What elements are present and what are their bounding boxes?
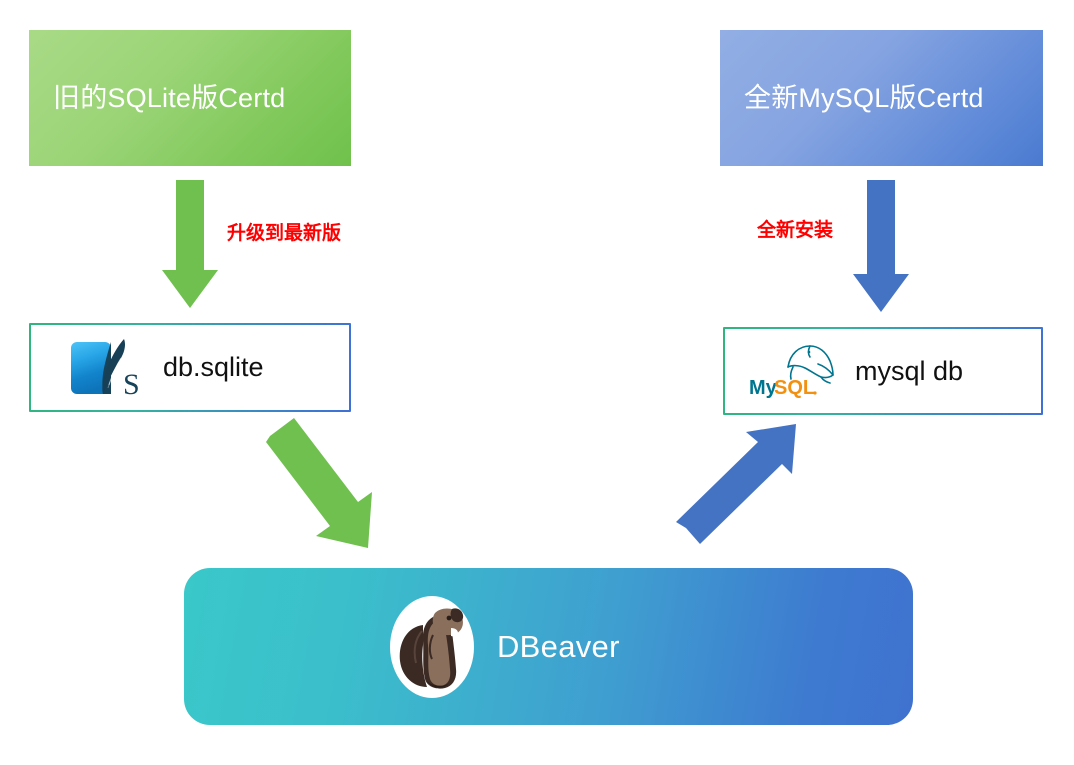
arrow-upgrade-down-icon: [162, 180, 218, 308]
node-new-certd-label: 全新MySQL版Certd: [720, 82, 984, 114]
sqlite-logo-icon: S: [61, 333, 153, 403]
arrow-sqlite-to-dbeaver-icon: [248, 416, 388, 556]
edge-label-install: 全新安装: [757, 215, 833, 242]
node-dbeaver-label: DBeaver: [497, 629, 620, 665]
dbeaver-logo-icon: [389, 595, 475, 699]
node-dbeaver[interactable]: DBeaver: [184, 568, 913, 725]
node-mysql-db[interactable]: My SQL mysql db: [723, 327, 1043, 415]
arrow-dbeaver-to-mysql-icon: [672, 416, 812, 556]
diagram-canvas: 旧的SQLite版Certd 全新MySQL版Certd 升级到最新版 全新安装: [0, 0, 1074, 765]
arrow-head: [162, 270, 218, 308]
mysql-logo-icon: My SQL: [745, 340, 849, 402]
node-sqlite-db[interactable]: S db.sqlite: [29, 323, 351, 412]
edge-label-upgrade: 升级到最新版: [227, 218, 341, 245]
arrow-shaft: [867, 180, 895, 274]
node-old-certd-label: 旧的SQLite版Certd: [29, 82, 285, 114]
svg-text:S: S: [123, 368, 140, 400]
arrow-shaft: [176, 180, 204, 270]
node-new-certd[interactable]: 全新MySQL版Certd: [720, 30, 1043, 166]
node-sqlite-db-label: db.sqlite: [163, 352, 264, 383]
arrow-head: [853, 274, 909, 312]
node-mysql-db-label: mysql db: [855, 356, 963, 387]
arrow-install-down-icon: [853, 180, 909, 312]
node-old-certd[interactable]: 旧的SQLite版Certd: [29, 30, 351, 166]
svg-text:SQL: SQL: [774, 377, 815, 399]
